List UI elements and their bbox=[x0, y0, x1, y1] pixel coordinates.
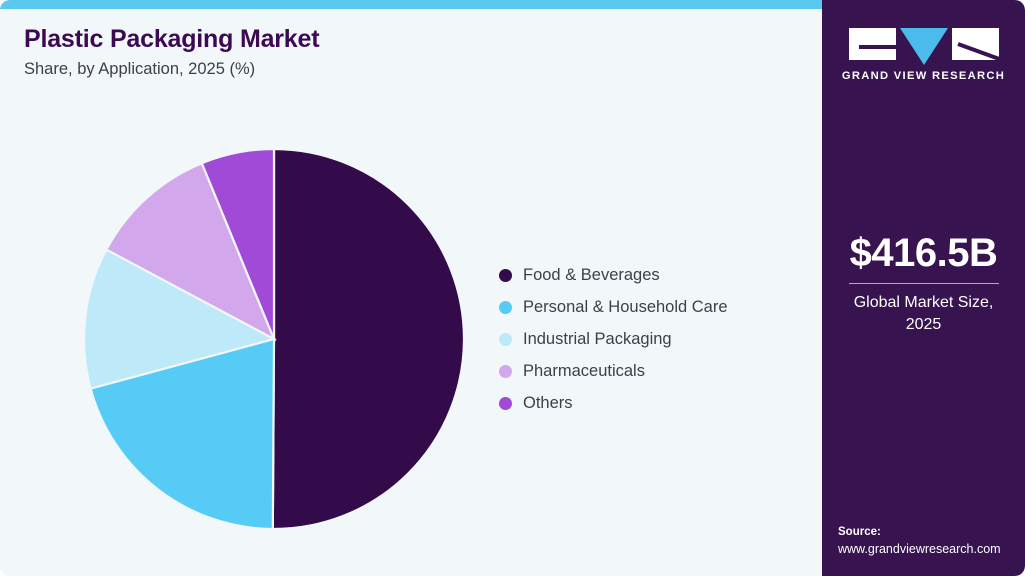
legend-swatch-personal-household-care bbox=[499, 301, 512, 314]
legend-item[interactable]: Food & Beverages bbox=[499, 259, 728, 291]
legend-swatch-food-beverages bbox=[499, 269, 512, 282]
chart-legend: Food & Beverages Personal & Household Ca… bbox=[499, 259, 728, 419]
chart-panel: Plastic Packaging Market Share, by Appli… bbox=[0, 9, 822, 576]
brand-name: GRAND VIEW RESEARCH bbox=[822, 70, 1025, 82]
logo-letter-r-icon bbox=[952, 28, 999, 60]
logo-letter-v-triangle-icon bbox=[900, 28, 948, 65]
legend-label-others: Others bbox=[523, 394, 573, 413]
pie-chart bbox=[83, 148, 465, 530]
legend-label-industrial-packaging: Industrial Packaging bbox=[523, 330, 672, 349]
brand-sidebar: GRAND VIEW RESEARCH $416.5B Global Marke… bbox=[822, 0, 1025, 576]
page-subtitle: Share, by Application, 2025 (%) bbox=[24, 60, 319, 80]
infographic-card: Plastic Packaging Market Share, by Appli… bbox=[0, 0, 1025, 576]
title-block: Plastic Packaging Market Share, by Appli… bbox=[24, 26, 319, 79]
stat-callout: $416.5B Global Market Size, 2025 bbox=[822, 232, 1025, 335]
source-url[interactable]: www.grandviewresearch.com bbox=[838, 541, 1025, 558]
legend-item[interactable]: Industrial Packaging bbox=[499, 323, 728, 355]
stat-caption: Global Market Size, 2025 bbox=[822, 292, 1025, 335]
legend-item[interactable]: Personal & Household Care bbox=[499, 291, 728, 323]
top-accent-bar bbox=[0, 0, 822, 9]
legend-item[interactable]: Others bbox=[499, 387, 728, 419]
stat-divider bbox=[849, 283, 999, 284]
brand-logo: GRAND VIEW RESEARCH bbox=[822, 28, 1025, 82]
legend-item[interactable]: Pharmaceuticals bbox=[499, 355, 728, 387]
pie-slice-group bbox=[84, 149, 464, 529]
source-label: Source: bbox=[838, 524, 1025, 541]
legend-swatch-others bbox=[499, 397, 512, 410]
legend-label-food-beverages: Food & Beverages bbox=[523, 266, 660, 285]
pie-slice[interactable] bbox=[273, 149, 464, 529]
pie-chart-svg bbox=[83, 148, 465, 530]
legend-swatch-pharmaceuticals bbox=[499, 365, 512, 378]
stat-value: $416.5B bbox=[822, 232, 1025, 274]
source-block: Source: www.grandviewresearch.com bbox=[838, 524, 1025, 558]
legend-swatch-industrial-packaging bbox=[499, 333, 512, 346]
page-title: Plastic Packaging Market bbox=[24, 26, 319, 54]
logo-letter-g-icon bbox=[849, 28, 896, 60]
legend-label-pharmaceuticals: Pharmaceuticals bbox=[523, 362, 645, 381]
logo-marks bbox=[822, 28, 1025, 62]
legend-label-personal-household-care: Personal & Household Care bbox=[523, 298, 728, 317]
